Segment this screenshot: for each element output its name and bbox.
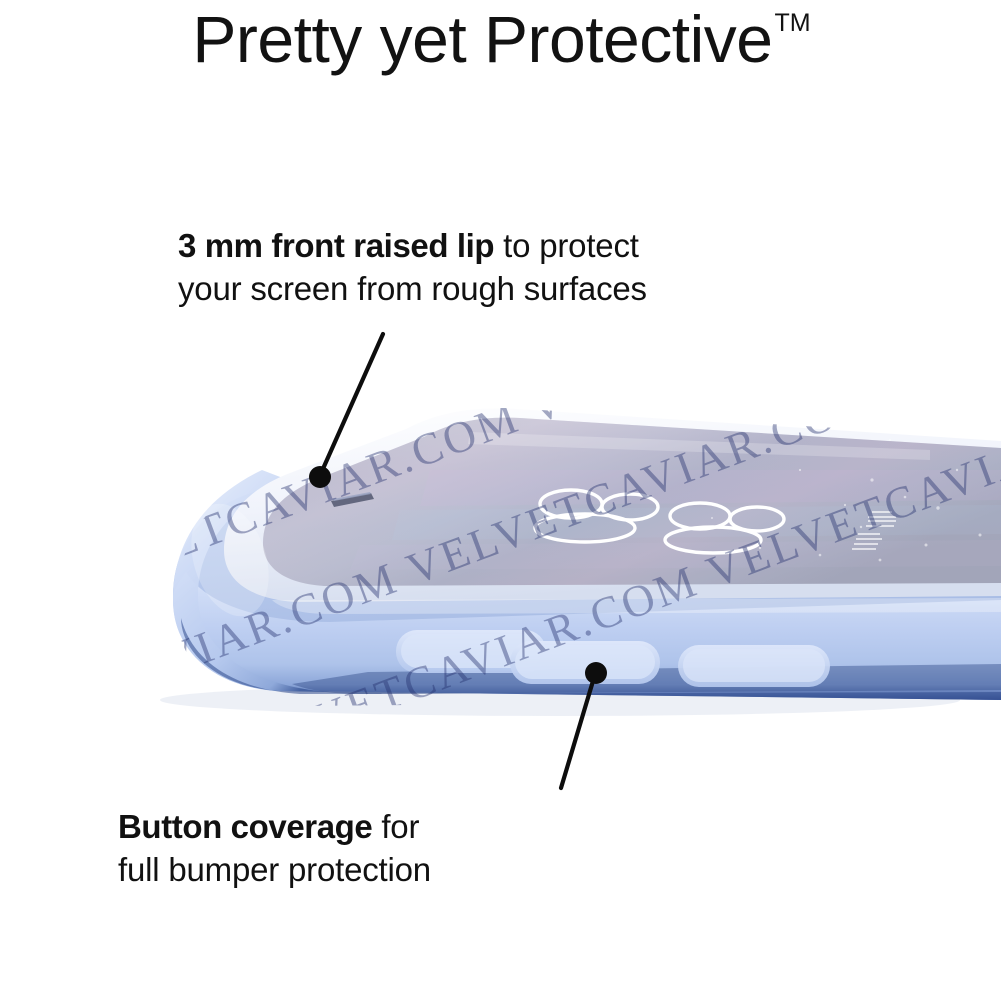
callout-raised-lip-line1: 3 mm front raised lip to protect <box>178 224 858 267</box>
callout-raised-lip-line2: your screen from rough surfaces <box>178 267 858 310</box>
callout-raised-lip-bold: 3 mm front raised lip <box>178 227 494 264</box>
callout-button-coverage-bold: Button coverage <box>118 808 372 845</box>
callout-raised-lip: 3 mm front raised lip to protect your sc… <box>178 224 858 310</box>
callout-button-coverage-line2: full bumper protection <box>118 848 738 891</box>
callout-button-coverage: Button coverage for full bumper protecti… <box>118 805 738 891</box>
marketing-image-canvas: Pretty yet ProtectiveTM <box>0 0 1001 1001</box>
callout-button-coverage-regular: for <box>372 808 419 845</box>
callout-raised-lip-regular: to protect <box>494 227 639 264</box>
callout-button-coverage-line1: Button coverage for <box>118 805 738 848</box>
leader-dot-button-coverage <box>585 662 607 684</box>
